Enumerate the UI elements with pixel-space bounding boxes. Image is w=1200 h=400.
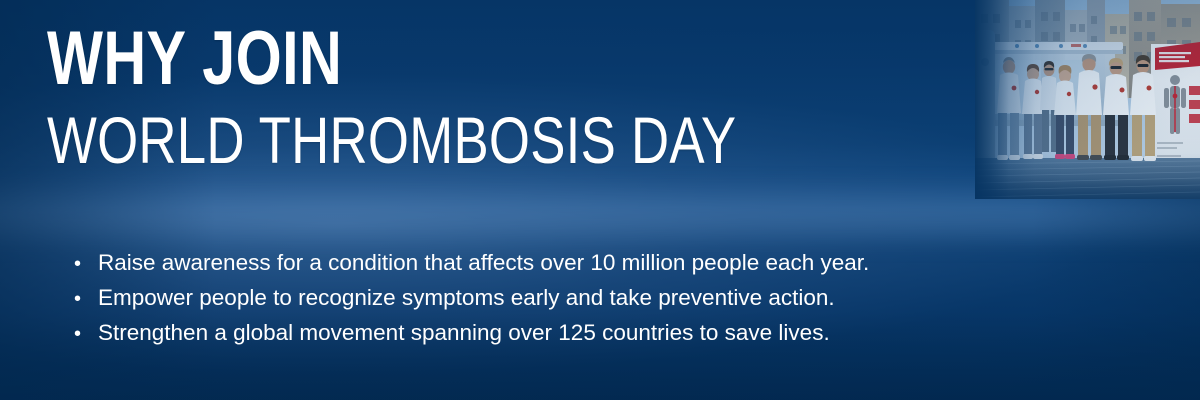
benefits-list: • Raise awareness for a condition that a… <box>74 246 869 351</box>
event-photo <box>975 0 1200 199</box>
bullet-point-icon: • <box>74 247 98 281</box>
headline-block: WHY JOIN WORLD THROMBOSIS DAY <box>47 24 909 173</box>
bullet-point-icon: • <box>74 317 98 351</box>
list-item-label: Strengthen a global movement spanning ov… <box>98 316 830 350</box>
list-item-label: Raise awareness for a condition that aff… <box>98 246 869 280</box>
headline-line-1: WHY JOIN <box>47 24 719 95</box>
bullet-point-icon: • <box>74 282 98 316</box>
list-item: • Empower people to recognize symptoms e… <box>74 281 869 316</box>
headline-line-2: WORLD THROMBOSIS DAY <box>47 107 736 173</box>
list-item: • Strengthen a global movement spanning … <box>74 316 869 351</box>
list-item-label: Empower people to recognize symptoms ear… <box>98 281 835 315</box>
why-join-wtd-banner: WHY JOIN WORLD THROMBOSIS DAY • Raise aw… <box>0 0 1200 400</box>
list-item: • Raise awareness for a condition that a… <box>74 246 869 281</box>
